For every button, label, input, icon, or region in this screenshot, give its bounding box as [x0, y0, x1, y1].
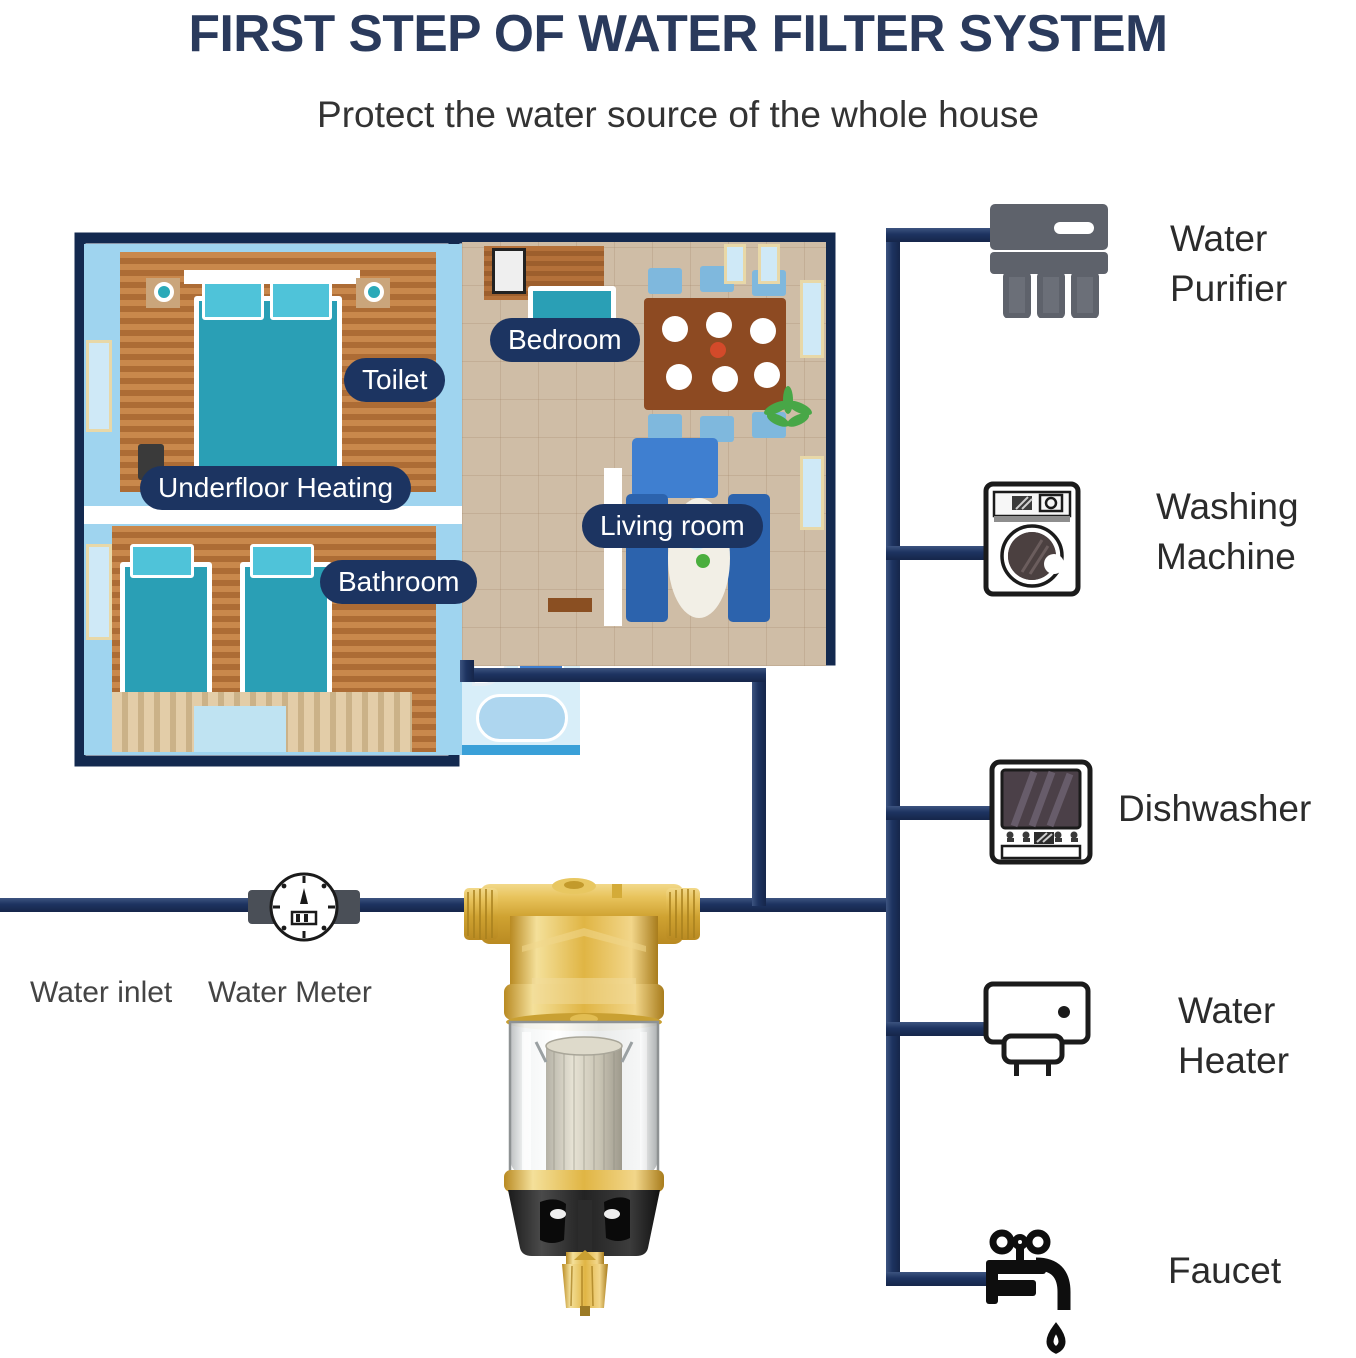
branch-pipe-water-purifier — [886, 228, 998, 242]
appliance-distribution-riser — [886, 228, 900, 1286]
page-subtitle: Protect the water source of the whole ho… — [0, 94, 1356, 136]
plant-icon — [762, 384, 814, 436]
water-inlet-label: Water inlet — [30, 976, 172, 1010]
appliance-label-washing-machine: Washing Machine — [1156, 482, 1299, 582]
main-supply-pipe — [0, 898, 470, 912]
appliance-label-water-purifier: Water Purifier — [1170, 214, 1287, 314]
page-title: FIRST STEP OF WATER FILTER SYSTEM — [7, 4, 1349, 64]
house-drop-riser — [460, 660, 474, 682]
house-branch-horizontal — [460, 668, 766, 682]
appliance-label-faucet: Faucet — [1168, 1246, 1281, 1296]
room-label-bedroom: Bedroom — [490, 318, 640, 362]
water-meter-icon — [246, 860, 362, 956]
branch-pipe-water-heater — [886, 1022, 990, 1036]
branch-pipe-washing-machine — [886, 546, 986, 560]
infographic-canvas: FIRST STEP OF WATER FILTER SYSTEM Protec… — [0, 0, 1356, 1358]
dishwasher-icon — [988, 758, 1094, 866]
room-label-underfloor-heating: Underfloor Heating — [140, 466, 411, 510]
water-meter-label: Water Meter — [208, 976, 372, 1010]
room-label-toilet: Toilet — [344, 358, 445, 402]
room-label-bathroom: Bathroom — [320, 560, 477, 604]
faucet-icon — [980, 1228, 1096, 1356]
filter-outlet-pipe — [672, 898, 900, 912]
appliance-label-dishwasher: Dishwasher — [1118, 784, 1311, 834]
room-label-living-room: Living room — [582, 504, 763, 548]
water-heater-icon — [982, 980, 1096, 1078]
branch-pipe-dishwasher — [886, 806, 998, 820]
floorplan-right-wing — [462, 242, 826, 666]
appliance-label-water-heater: Water Heater — [1178, 986, 1289, 1086]
water-purifier-icon — [984, 200, 1114, 318]
prefilter-unit-icon — [462, 856, 702, 1316]
house-branch-riser — [752, 668, 766, 906]
washing-machine-icon — [982, 480, 1082, 598]
